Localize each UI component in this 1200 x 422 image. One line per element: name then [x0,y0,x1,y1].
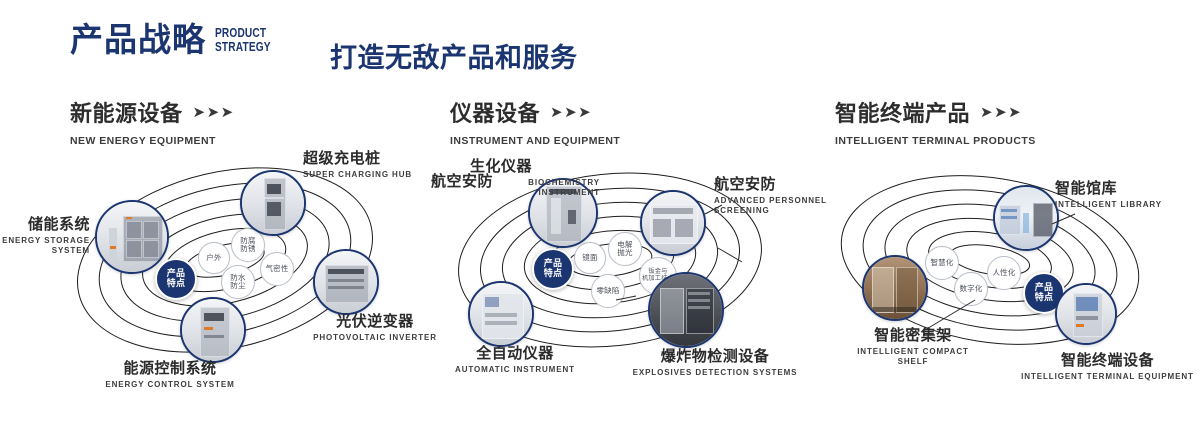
node-photo-intelligent-compact-shelf[interactable] [862,255,928,321]
node-photo-explosives-detection-systems[interactable] [648,272,724,348]
node-photo-energy-control-system[interactable] [180,297,246,363]
page-title: 产品战略 [70,22,206,58]
feature-bubble-mirror: 镜面 [574,242,606,274]
page-title-english: PRODUCT STRATEGY [215,26,271,53]
section-title-instrument: 仪器设备 ➤➤➤ INSTRUMENT AND EQUIPMENT [450,96,620,147]
core-bubble-instrument: 产品 特点 [532,248,574,290]
chevron-right-icon: ➤➤➤ [980,105,1021,120]
poster-canvas: 产品战略 PRODUCT STRATEGY 打造无敌产品和服务 新能源设备 ➤➤… [0,0,1200,422]
core-bubble-line2: 特点 [167,279,185,289]
core-bubble-line2: 特点 [1035,293,1053,303]
label-energy-storage-system: 储能系统 ENERGY STORAGESYSTEM [0,216,90,256]
section-title-instrument-cn: 仪器设备 [450,96,540,128]
page-title-english-line1: PRODUCT [215,26,271,40]
section-title-intelligent-terminal-cn: 智能终端产品 [835,96,970,128]
label-energy-control-system: 能源控制系统 ENERGY CONTROL SYSTEM [60,360,280,390]
node-photo-intelligent-library[interactable] [993,185,1059,251]
page-title-english-line2: STRATEGY [215,40,271,54]
section-title-new-energy-cn: 新能源设备 [70,96,183,128]
feature-bubble-humanization: 人性化 [987,256,1021,290]
feature-bubble-intelligence: 智慧化 [925,246,959,280]
page-header: 产品战略 PRODUCT STRATEGY [70,22,286,58]
node-photo-advanced-personnel-screening[interactable] [640,190,706,256]
label-intelligent-compact-shelf: 智能密集架 INTELLIGENT COMPACTSHELF [818,327,1008,367]
core-bubble-line1: 产品 [544,259,562,269]
label-advanced-personnel-screening: 航空安防 ADVANCED PERSONNELSCREENING [714,176,834,216]
core-bubble-line2: 特点 [544,269,562,279]
node-photo-automatic-instrument[interactable] [468,281,534,347]
feature-bubble-zero-defect: 零缺陷 [591,274,625,308]
label-explosives-detection-systems: 爆炸物检测设备 EXPLOSIVES DETECTION SYSTEMS [615,348,815,378]
chevron-right-icon: ➤➤➤ [550,105,591,120]
feature-bubble-electropolishing: 电解 抛光 [608,232,642,266]
node-photo-super-charging-hub[interactable] [240,170,306,236]
section-title-new-energy: 新能源设备 ➤➤➤ NEW ENERGY EQUIPMENT [70,96,234,147]
label-intelligent-library: 智能馆库 INTELLIGENT LIBRARY [1055,180,1200,210]
feature-bubble-airtightness: 气密性 [260,252,294,286]
section-title-instrument-en: INSTRUMENT AND EQUIPMENT [450,135,620,147]
core-bubble-line1: 产品 [1035,283,1053,293]
section-title-intelligent-terminal: 智能终端产品 ➤➤➤ INTELLIGENT TERMINAL PRODUCTS [835,96,1036,147]
node-photo-intelligent-terminal-equipment[interactable] [1055,283,1117,345]
label-intelligent-terminal-equipment: 智能终端设备 INTELLIGENT TERMINAL EQUIPMENT [1015,352,1200,382]
label-automatic-instrument: 全自动仪器 AUTOMATIC INSTRUMENT [425,345,605,375]
section-title-intelligent-terminal-en: INTELLIGENT TERMINAL PRODUCTS [835,135,1036,147]
node-photo-energy-storage-system[interactable] [95,200,169,274]
label-biochemistry-instrument: 生化仪器 BIOCHEMISTRYINSTRUMENT [470,158,600,198]
node-photo-photovoltaic-inverter[interactable] [313,249,379,315]
page-subtitle: 打造无敌产品和服务 [330,36,578,75]
core-bubble-line1: 产品 [167,269,185,279]
feature-bubble-digitalization: 数字化 [954,272,988,306]
chevron-right-icon: ➤➤➤ [193,105,234,120]
section-title-new-energy-en: NEW ENERGY EQUIPMENT [70,135,234,147]
feature-bubble-waterproof: 防水 防尘 [221,265,255,299]
label-photovoltaic-inverter: 光伏逆变器 PHOTOVOLTAIC INVERTER [290,313,460,343]
